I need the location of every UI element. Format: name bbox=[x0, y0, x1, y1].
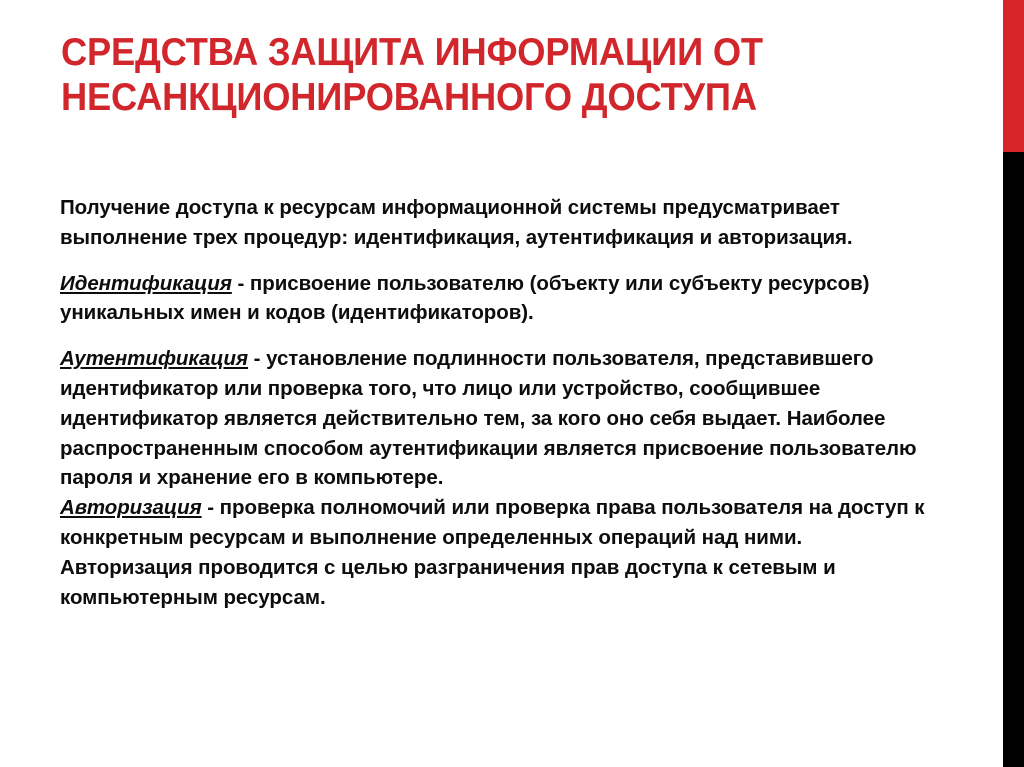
slide: СРЕДСТВА ЗАЩИТА ИНФОРМАЦИИ ОТ НЕСАНКЦИОН… bbox=[0, 0, 1024, 767]
paragraph-authentication: Аутентификация - установление подлинност… bbox=[60, 344, 940, 493]
term-authentication: Аутентификация bbox=[60, 347, 248, 370]
term-identification: Идентификация bbox=[60, 272, 232, 295]
edge-accent-bar-black bbox=[1003, 152, 1024, 767]
paragraph-authorization: Авторизация - проверка полномочий или пр… bbox=[60, 493, 940, 612]
paragraph-identification: Идентификация - присвоение пользователю … bbox=[60, 269, 940, 329]
paragraph-intro: Получение доступа к ресурсам информацион… bbox=[60, 193, 940, 253]
term-authorization: Авторизация bbox=[60, 496, 202, 519]
slide-body: Получение доступа к ресурсам информацион… bbox=[60, 193, 940, 612]
edge-accent-bar-red bbox=[1003, 0, 1024, 152]
slide-title: СРЕДСТВА ЗАЩИТА ИНФОРМАЦИИ ОТ НЕСАНКЦИОН… bbox=[61, 30, 903, 120]
